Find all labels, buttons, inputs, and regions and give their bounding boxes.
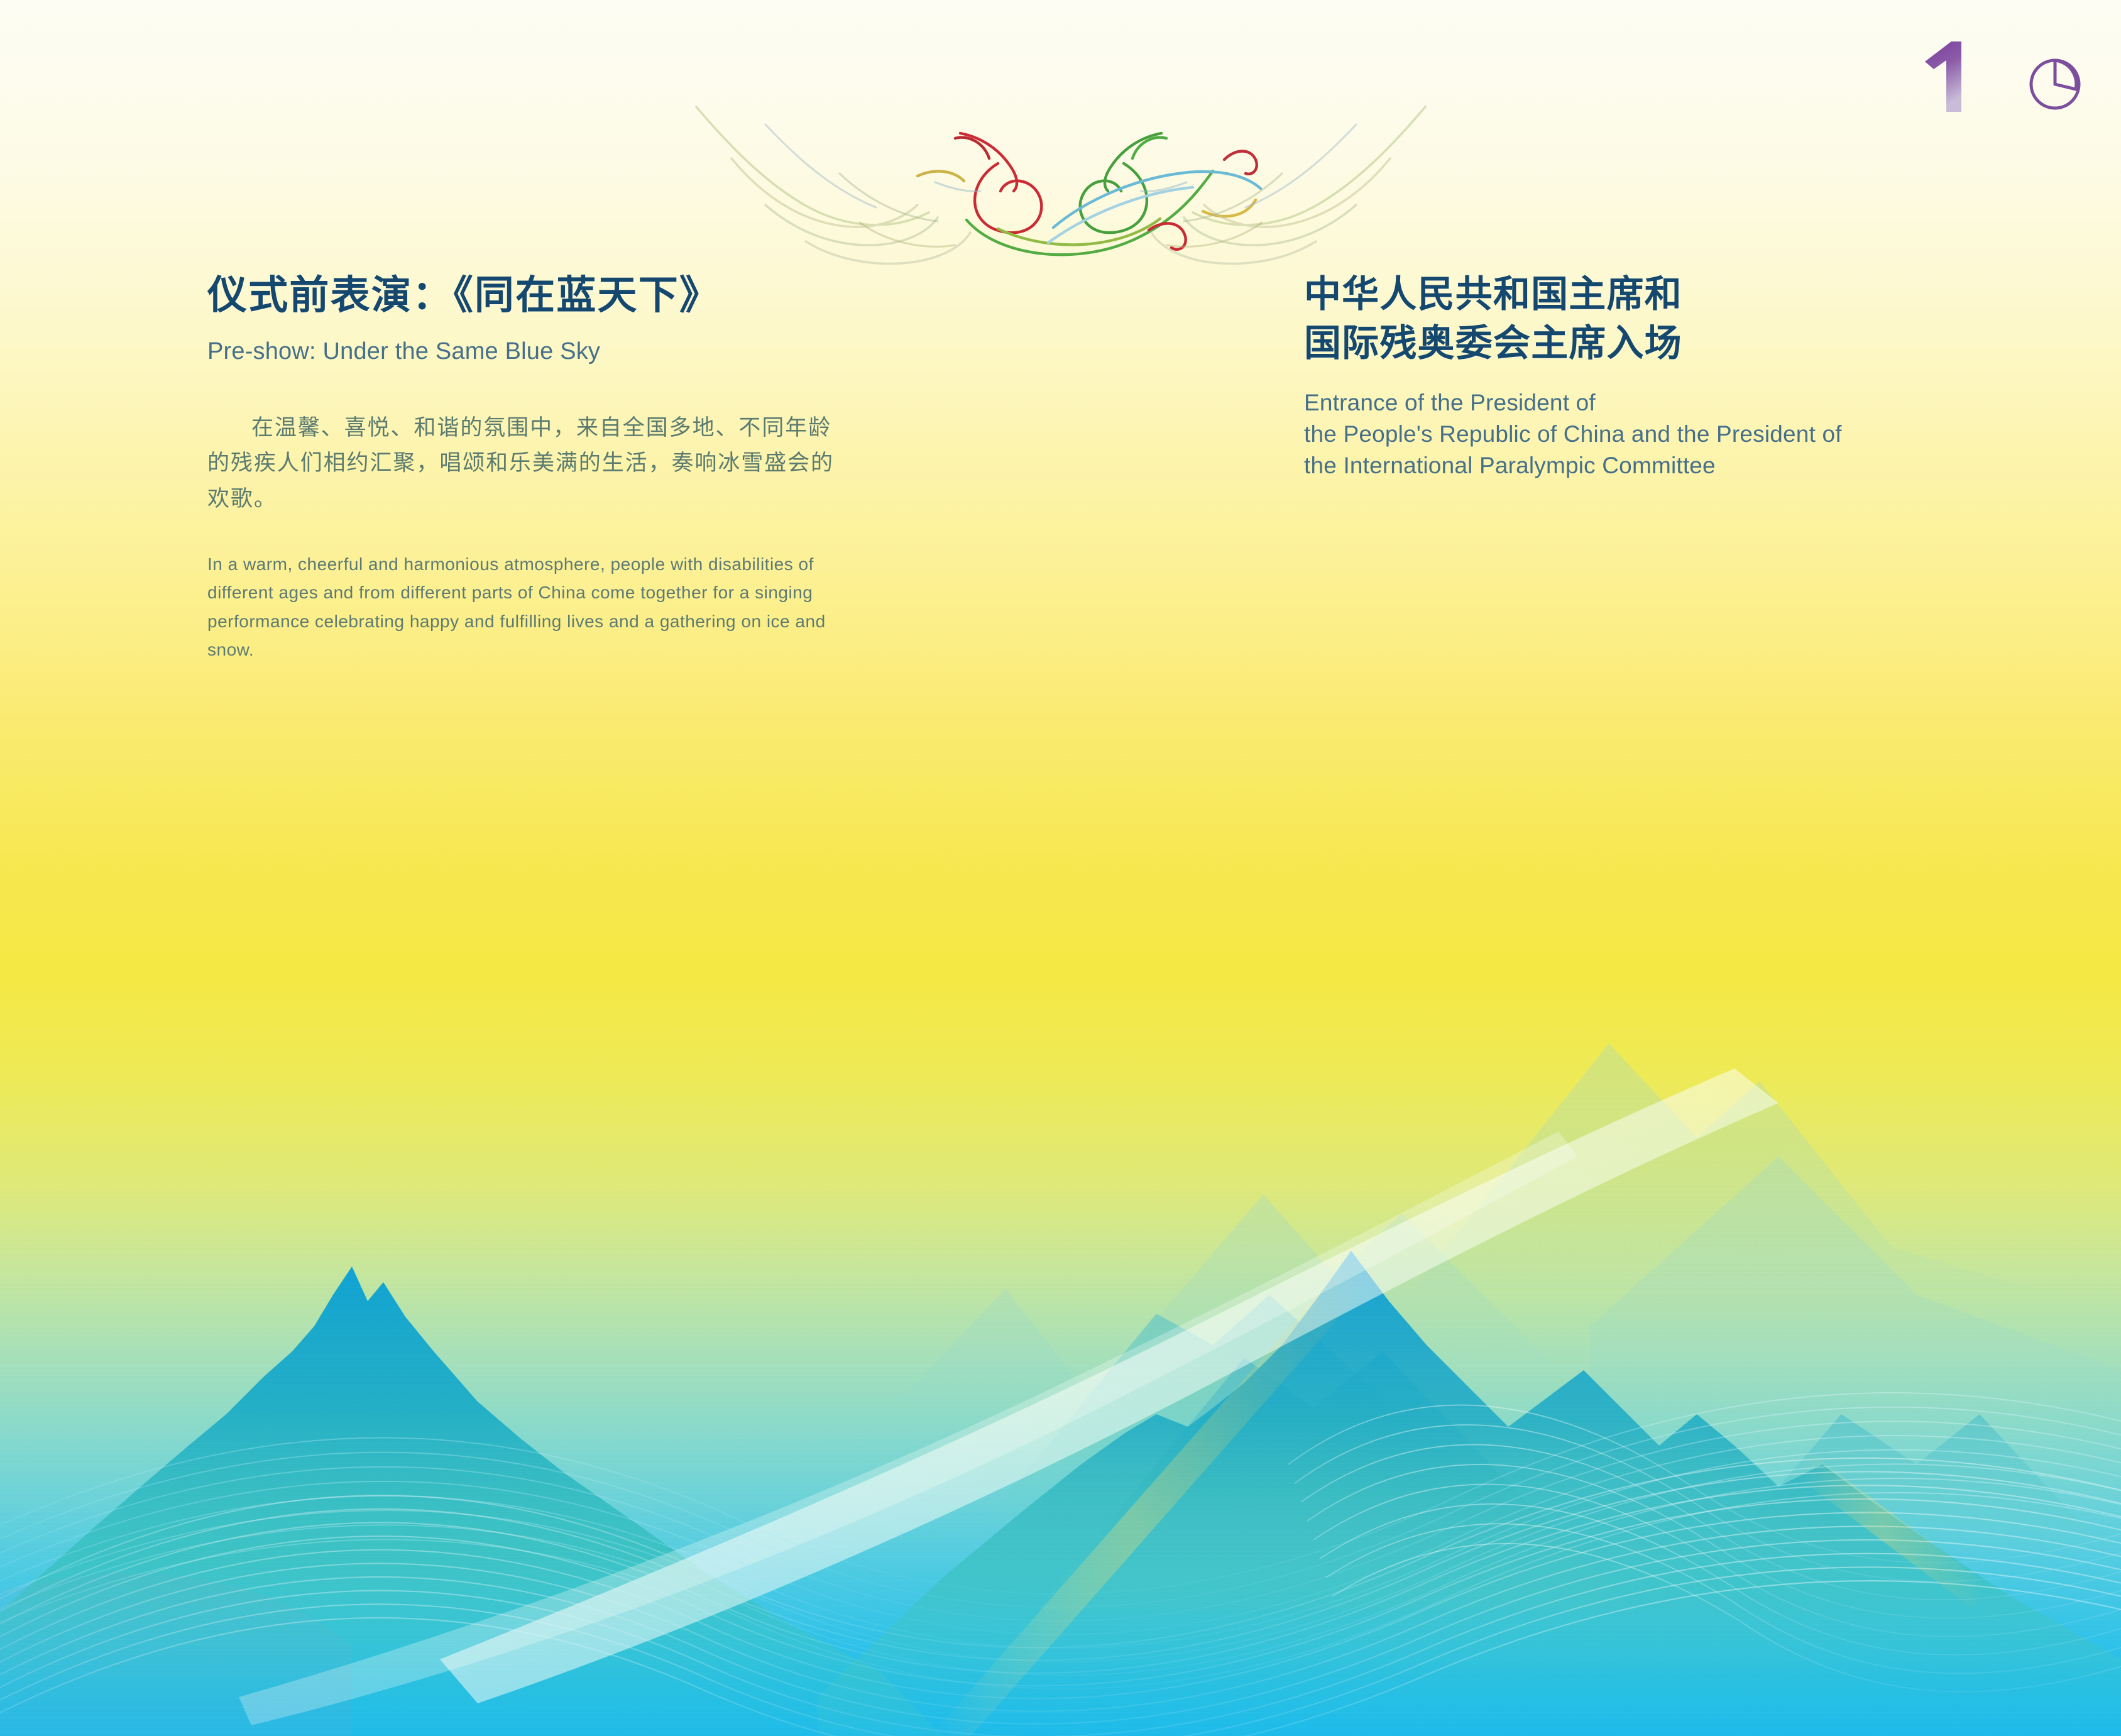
pre-show-english-title: Pre-show: Under the Same Blue Sky [207,336,848,368]
entrance-english-title: Entrance of the President of the People'… [1304,387,1970,482]
column-pre-show: 仪式前表演：《同在蓝天下》 Pre-show: Under the Same B… [207,270,848,664]
entrance-chinese-title: 中华人民共和国主席和 国际残奥委会主席入场 [1304,270,1970,368]
entrance-english-title-line1: Entrance of the President of [1304,390,1596,415]
pre-show-english-body: In a warm, cheerful and harmonious atmos… [207,550,830,664]
decorative-flourish [671,88,1450,270]
page-number-badge: 1 [1912,33,1988,121]
pre-show-chinese-body: 在温馨、喜悦、和谐的氛围中，来自全国多地、不同年龄的残疾人们相约汇聚，唱颂和乐美… [207,410,836,517]
entrance-chinese-title-line1: 中华人民共和国主席和 [1304,273,1682,315]
entrance-english-title-line2: the People's Republic of China and the P… [1304,421,1842,447]
entrance-english-title-line3: the International Paralympic Committee [1304,453,1716,478]
programme-page: 1 仪式前表演：《同在蓝天下》 Pre-show: Under the Same… [0,0,2121,1736]
clock-icon [2024,53,2086,116]
entrance-chinese-title-line2: 国际残奥委会主席入场 [1304,322,1682,364]
pre-show-chinese-title: 仪式前表演：《同在蓝天下》 [207,270,848,322]
mountains-far-layer [899,1043,2121,1420]
column-entrance: 中华人民共和国主席和 国际残奥委会主席入场 Entrance of the Pr… [1304,270,1970,482]
